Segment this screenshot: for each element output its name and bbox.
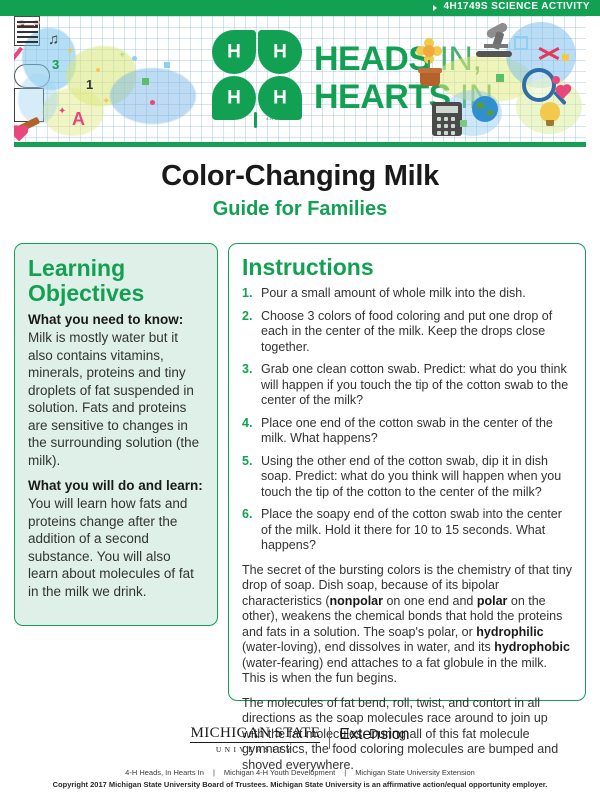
credit-department: Michigan 4-H Youth Development [224, 768, 335, 777]
term-nonpolar: nonpolar [330, 594, 383, 608]
clover-leaf: H [212, 30, 256, 74]
instruction-step: Grab one clean cotton swab. Predict: wha… [242, 362, 572, 409]
learning-objectives-heading: Learning Objectives [28, 256, 204, 306]
square-outline-decoration [514, 36, 528, 50]
msu-extension-logo: MICHIGAN STATE UNIVERSITY Extension [0, 726, 600, 754]
music-note-icon: ♫ [48, 32, 59, 47]
need-to-know-text: Milk is mostly water but it also contain… [28, 329, 204, 469]
clover-leaf-letter: H [273, 89, 287, 108]
explanation-text-e: (water-loving), end dissolves in water, … [242, 640, 494, 654]
watercolor-blob [110, 68, 196, 124]
term-hydrophobic: hydrophobic [494, 640, 570, 654]
dot-decoration [150, 100, 155, 105]
triangle-marker-icon [433, 5, 437, 11]
msu-name-text: MICHIGAN STATE [190, 726, 320, 743]
footer-credits: 4-H Heads, In Hearts In|Michigan 4-H You… [0, 768, 600, 777]
explanation-text-c: on one end and [383, 594, 477, 608]
instruction-step: Place one end of the cotton swab in the … [242, 416, 572, 447]
clover-leaf-letter: H [227, 43, 241, 62]
star-icon: ✦ [66, 46, 74, 57]
number-three-doodle: 3 [52, 58, 59, 71]
instruction-step: Using the other end of the cotton swab, … [242, 454, 572, 501]
clover-stem [254, 112, 257, 128]
learning-objectives-panel: Learning Objectives What you need to kno… [14, 243, 218, 626]
star-icon: ✦ [58, 106, 66, 117]
flower-icon [418, 40, 440, 62]
explanation-text-f: (water-fearing) end attaches to a fat gl… [242, 656, 547, 686]
clover-leaf: H [258, 76, 302, 120]
credit-program: 4-H Heads, In Hearts In [125, 768, 204, 777]
msu-university-lockup: MICHIGAN STATE UNIVERSITY [190, 726, 320, 754]
instruction-step: Pour a small amount of whole milk into t… [242, 286, 572, 302]
clover-leaf-letter: H [273, 43, 287, 62]
star-icon: ✦ [118, 50, 126, 61]
page-title: Color-Changing Milk [0, 160, 600, 193]
activity-code-label: 4H1749S SCIENCE ACTIVITY [444, 1, 591, 12]
clover-leaf: H [258, 30, 302, 74]
watercolor-blob [18, 74, 58, 124]
do-and-learn-subheading: What you will do and learn: [28, 478, 204, 493]
globe-icon [472, 96, 498, 122]
square-decoration [562, 54, 569, 61]
term-polar: polar [477, 594, 508, 608]
heart-icon [14, 127, 27, 142]
heading-line-2: Objectives [28, 280, 144, 306]
four-h-clover-logo: H H H H 4-H ORG [210, 28, 306, 128]
right-doodle-art [410, 16, 586, 142]
square-decoration [496, 74, 504, 82]
do-and-learn-text: You will learn how fats and proteins cha… [28, 495, 204, 600]
instructions-panel: Instructions Pour a small amount of whol… [228, 243, 586, 701]
clover-trademark-text: 4-H ORG [266, 116, 285, 121]
explanation-paragraph-1: The secret of the bursting colors is the… [242, 563, 572, 687]
square-decoration [164, 62, 170, 68]
flower-pot-icon [420, 72, 440, 86]
dot-decoration [96, 68, 100, 72]
scissors-icon [538, 44, 560, 66]
magnifying-glass-icon [522, 68, 556, 102]
msu-university-text: UNIVERSITY [190, 745, 320, 754]
msu-extension-text: Extension [339, 726, 409, 744]
activity-sheet-page: 4H1749S SCIENCE ACTIVITY ♫ 3 1 A ✦ ✦ ✦ ✦ [0, 0, 600, 808]
instruction-step-list: Pour a small amount of whole milk into t… [242, 286, 572, 554]
copyright-notice: Copyright 2017 Michigan State University… [0, 780, 600, 789]
clover-leaf: H [212, 76, 256, 120]
calculator-icon [432, 102, 462, 136]
need-to-know-subheading: What you need to know: [28, 312, 204, 327]
dot-decoration [132, 56, 137, 61]
top-banner: 4H1749S SCIENCE ACTIVITY [0, 0, 600, 16]
term-hydrophilic: hydrophilic [476, 625, 543, 639]
page-subtitle: Guide for Families [0, 198, 600, 221]
clover-leaf-letter: H [227, 89, 241, 108]
left-doodle-art: ♫ 3 1 A ✦ ✦ ✦ ✦ [14, 16, 204, 142]
microscope-icon [472, 24, 516, 62]
credit-institution: Michigan State University Extension [355, 768, 475, 777]
heading-line-1: Learning [28, 255, 125, 281]
dot-decoration [552, 76, 560, 84]
letter-a-doodle: A [72, 110, 85, 128]
masthead: ♫ 3 1 A ✦ ✦ ✦ ✦ H H H H 4-H ORG [14, 16, 586, 147]
number-one-doodle: 1 [86, 78, 93, 91]
lightbulb-icon [540, 102, 560, 122]
instructions-heading: Instructions [242, 255, 572, 280]
logo-divider [329, 727, 330, 749]
instruction-step: Choose 3 colors of food coloring and put… [242, 309, 572, 356]
square-decoration [460, 120, 467, 127]
instruction-step: Place the soapy end of the cotton swab i… [242, 507, 572, 554]
square-decoration [142, 78, 149, 85]
star-icon: ✦ [102, 96, 110, 107]
